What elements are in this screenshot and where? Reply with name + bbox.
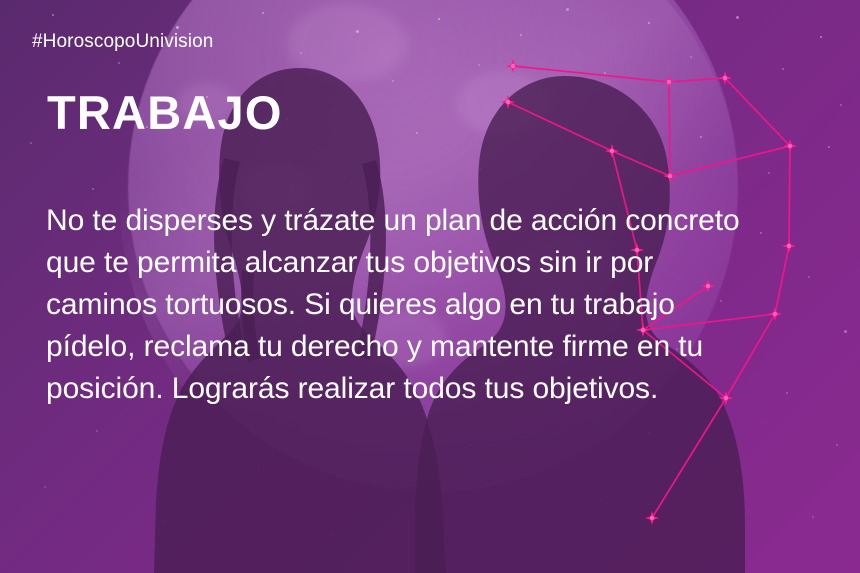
body-line: caminos tortuosos. Si quieres algo en tu… [46,284,846,326]
body-line: pídelo, reclama tu derecho y mantente fi… [46,326,846,368]
content-layer: #HoroscopoUnivision TRABAJO No te disper… [0,0,860,573]
body-line: posición. Lograrás realizar todos tus ob… [46,368,846,410]
horoscope-card: #HoroscopoUnivision TRABAJO No te disper… [0,0,860,573]
page-title: TRABAJO [47,89,283,136]
body-line: No te disperses y trázate un plan de acc… [46,200,846,242]
hashtag-label: #HoroscopoUnivision [32,31,213,53]
horoscope-body: No te disperses y trázate un plan de acc… [46,200,846,410]
body-line: que te permita alcanzar tus objetivos si… [46,242,846,284]
